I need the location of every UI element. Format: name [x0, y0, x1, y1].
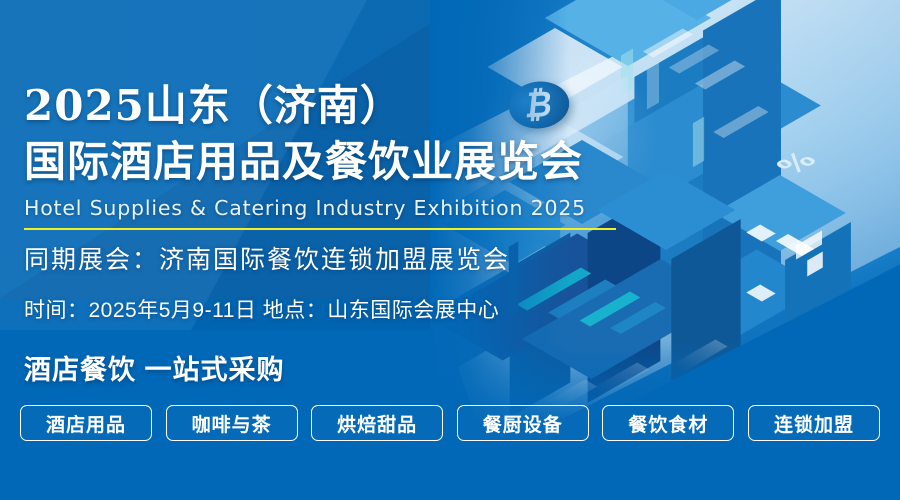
concurrent-event-text: 同期展会：济南国际餐饮连锁加盟展览会: [24, 240, 510, 276]
banner-title-line2: 国际酒店用品及餐饮业展览会: [24, 134, 583, 190]
banner-slogan: 酒店餐饮 一站式采购: [24, 348, 285, 387]
category-tag-kitchen-equipment[interactable]: 餐厨设备: [457, 405, 589, 441]
category-tag-franchise[interactable]: 连锁加盟: [748, 405, 880, 441]
date-venue-text: 时间：2025年5月9-11日 地点：山东国际会展中心: [24, 294, 499, 324]
exhibition-banner: ₿ %: [0, 0, 900, 500]
category-tag-food-ingredients[interactable]: 餐饮食材: [602, 405, 734, 441]
banner-content: 2025山东（济南） 国际酒店用品及餐饮业展览会 Hotel Supplies …: [0, 0, 900, 500]
category-tag-bakery-dessert[interactable]: 烘焙甜品: [311, 405, 443, 441]
banner-title: 2025山东（济南） 国际酒店用品及餐饮业展览会: [24, 78, 583, 190]
category-tag-hotel-supplies[interactable]: 酒店用品: [20, 405, 152, 441]
banner-subtitle-english: Hotel Supplies & Catering Industry Exhib…: [24, 196, 586, 220]
yellow-divider: [24, 228, 616, 230]
category-tag-coffee-tea[interactable]: 咖啡与茶: [166, 405, 298, 441]
category-tag-list: 酒店用品 咖啡与茶 烘焙甜品 餐厨设备 餐饮食材 连锁加盟: [20, 404, 880, 442]
banner-title-line1: 2025山东（济南）: [24, 81, 403, 130]
